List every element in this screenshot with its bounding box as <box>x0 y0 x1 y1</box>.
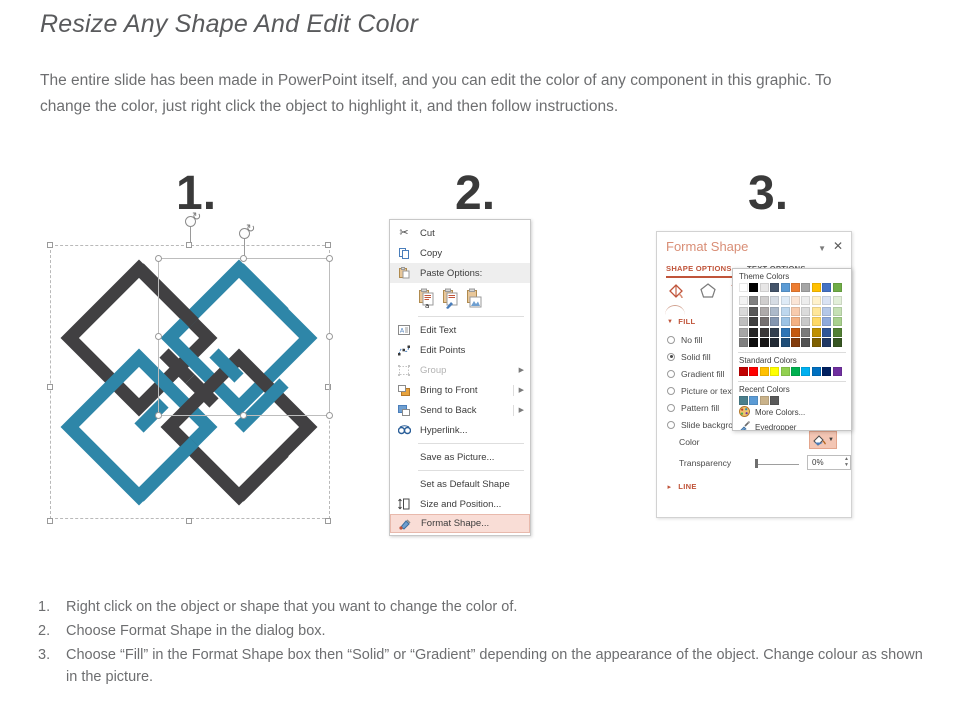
effects-pentagon-icon[interactable] <box>699 282 717 304</box>
palette-icon <box>739 406 750 419</box>
inner-handle-s[interactable] <box>240 412 247 419</box>
theme-color-cell[interactable] <box>739 328 748 337</box>
more-colors-label: More Colors... <box>755 408 805 417</box>
svg-text:a: a <box>425 302 429 309</box>
theme-color-cell[interactable] <box>770 307 779 316</box>
theme-color-cell[interactable] <box>822 307 831 316</box>
theme-color-column[interactable] <box>833 283 842 347</box>
submenu-arrow-icon: ▶ <box>519 386 524 394</box>
submenu-arrow-icon: ▶ <box>519 366 524 374</box>
radio-no-fill[interactable] <box>667 336 675 344</box>
submenu-arrow-icon: ▶ <box>519 406 524 414</box>
standard-colors-heading: Standard Colors <box>733 353 851 367</box>
theme-colors-grid[interactable] <box>733 283 851 347</box>
list-item-index: 1. <box>38 596 66 618</box>
recent-color-cell[interactable] <box>770 396 779 405</box>
theme-color-cell[interactable] <box>791 307 800 316</box>
list-item-index: 2. <box>38 620 66 642</box>
context-menu-separator <box>418 470 524 471</box>
list-item-text: Right click on the object or shape that … <box>66 596 938 618</box>
theme-color-cell[interactable] <box>781 307 790 316</box>
theme-color-cell[interactable] <box>822 283 831 292</box>
fill-option-label: Pattern fill <box>681 403 719 413</box>
theme-color-cell[interactable] <box>801 296 810 305</box>
theme-color-column[interactable] <box>822 283 831 347</box>
theme-color-cell[interactable] <box>739 283 748 292</box>
color-swatch-button[interactable]: ▼ <box>809 431 837 449</box>
fill-bucket-swatch-icon <box>812 434 827 447</box>
theme-color-cell[interactable] <box>739 338 748 347</box>
theme-color-cell[interactable] <box>833 296 842 305</box>
theme-color-cell[interactable] <box>801 338 810 347</box>
transparency-value: 0% <box>812 458 824 467</box>
context-menu-item-edit-points[interactable]: Edit Points <box>390 340 530 360</box>
context-menu-label: Set as Default Shape <box>420 479 510 490</box>
theme-color-cell[interactable] <box>791 338 800 347</box>
theme-color-cell[interactable] <box>739 317 748 326</box>
inner-handle-se[interactable] <box>326 412 333 419</box>
intro-paragraph: The entire slide has been made in PowerP… <box>40 68 872 120</box>
theme-color-cell[interactable] <box>822 338 831 347</box>
theme-color-cell[interactable] <box>812 283 821 292</box>
theme-color-cell[interactable] <box>791 283 800 292</box>
context-menu-item-edit-text[interactable]: A Edit Text <box>390 320 530 340</box>
theme-color-cell[interactable] <box>760 296 769 305</box>
context-menu-label: Save as Picture... <box>420 452 494 463</box>
inner-handle-w[interactable] <box>155 333 162 340</box>
selection-handle-n[interactable] <box>186 242 192 248</box>
radio-solid-fill[interactable] <box>667 353 675 361</box>
recent-colors-heading: Recent Colors <box>733 382 851 396</box>
theme-color-cell[interactable] <box>833 307 842 316</box>
recent-color-cell[interactable] <box>760 396 769 405</box>
theme-color-cell[interactable] <box>760 338 769 347</box>
recent-color-cell[interactable] <box>749 396 758 405</box>
theme-color-cell[interactable] <box>812 296 821 305</box>
context-menu-label: Send to Back <box>420 405 477 416</box>
context-menu-label: Size and Position... <box>420 499 501 510</box>
page-title: Resize Any Shape And Edit Color <box>40 10 418 39</box>
edit-text-icon: A <box>396 323 412 337</box>
standard-color-cell[interactable] <box>760 367 769 376</box>
rotate-arrow-inner-icon: ↻ <box>246 224 255 235</box>
selection-handle-ne[interactable] <box>325 242 331 248</box>
fill-option-label: Picture or text <box>681 386 734 396</box>
theme-color-cell[interactable] <box>760 307 769 316</box>
theme-color-cell[interactable] <box>812 328 821 337</box>
transparency-input[interactable]: 0% ▲▼ <box>807 455 851 470</box>
context-menu-label: Copy <box>420 248 442 259</box>
theme-color-column[interactable] <box>770 283 779 347</box>
context-menu-item-paste-options[interactable]: Paste Options: <box>390 263 530 283</box>
theme-color-cell[interactable] <box>833 338 842 347</box>
theme-color-cell[interactable] <box>781 283 790 292</box>
theme-color-cell[interactable] <box>833 283 842 292</box>
theme-color-cell[interactable] <box>822 328 831 337</box>
active-icon-underline <box>665 305 685 315</box>
inner-handle-e[interactable] <box>326 333 333 340</box>
theme-color-cell[interactable] <box>770 338 779 347</box>
eyedropper-item[interactable]: Eyedropper <box>733 420 851 431</box>
selection-handle-sw[interactable] <box>47 518 53 524</box>
theme-color-cell[interactable] <box>791 296 800 305</box>
fill-option-label: Gradient fill <box>681 369 724 379</box>
triangle-right-icon: ▼ <box>667 483 673 489</box>
standard-color-cell[interactable] <box>833 367 842 376</box>
theme-color-cell[interactable] <box>822 317 831 326</box>
standard-color-cell[interactable] <box>812 367 821 376</box>
theme-color-cell[interactable] <box>749 338 758 347</box>
context-menu-label: Hyperlink... <box>420 425 468 436</box>
active-tab-underline <box>666 276 738 278</box>
more-colors-item[interactable]: More Colors... <box>733 405 851 420</box>
hyperlink-icon <box>396 423 412 437</box>
context-menu-item-group[interactable]: Group ▶ <box>390 360 530 380</box>
chevron-down-icon[interactable]: ▼ <box>818 244 826 253</box>
theme-color-cell[interactable] <box>739 307 748 316</box>
theme-color-cell[interactable] <box>801 317 810 326</box>
context-menu-item-set-default-shape[interactable]: Set as Default Shape <box>390 474 530 494</box>
theme-color-cell[interactable] <box>760 283 769 292</box>
rotate-stem-outer <box>190 227 191 242</box>
triangle-down-icon: ▼ <box>667 319 673 325</box>
radio-gradient-fill[interactable] <box>667 370 675 378</box>
context-menu-item-size-and-position[interactable]: Size and Position... <box>390 494 530 514</box>
theme-color-cell[interactable] <box>770 296 779 305</box>
theme-color-cell[interactable] <box>749 296 758 305</box>
context-menu-item-format-shape[interactable]: Format Shape... <box>390 514 530 533</box>
list-item-index: 3. <box>38 644 66 666</box>
inner-handle-ne[interactable] <box>326 255 333 262</box>
theme-color-cell[interactable] <box>760 317 769 326</box>
theme-color-cell[interactable] <box>791 317 800 326</box>
format-shape-icon <box>397 517 413 531</box>
theme-color-cell[interactable] <box>781 296 790 305</box>
context-menu-label: Group <box>420 365 446 376</box>
radio-slide-background[interactable] <box>667 421 675 429</box>
tab-shape-options[interactable]: SHAPE OPTIONS <box>666 264 732 273</box>
paste-options-row[interactable]: a <box>390 283 530 313</box>
menu-divider <box>513 385 514 396</box>
recent-color-cell[interactable] <box>739 396 748 405</box>
radio-pattern-fill[interactable] <box>667 404 675 412</box>
theme-color-cell[interactable] <box>749 328 758 337</box>
selection-handle-se[interactable] <box>325 518 331 524</box>
size-position-icon <box>396 497 412 511</box>
theme-color-column[interactable] <box>781 283 790 347</box>
theme-color-cell[interactable] <box>770 283 779 292</box>
standard-color-cell[interactable] <box>770 367 779 376</box>
color-row[interactable]: Color ▼ <box>679 437 847 447</box>
context-menu-item-cut[interactable]: ✂ Cut <box>390 223 530 243</box>
close-icon[interactable]: ✕ <box>833 240 843 252</box>
context-menu-separator <box>418 316 524 317</box>
list-item-text: Choose “Fill” in the Format Shape box th… <box>66 644 938 688</box>
theme-colors-heading: Theme Colors <box>733 269 851 283</box>
inner-handle-sw[interactable] <box>155 412 162 419</box>
chevron-down-icon[interactable]: ▼ <box>828 437 834 443</box>
eyedropper-icon <box>739 421 750 431</box>
selection-handle-nw[interactable] <box>47 242 53 248</box>
context-menu-item-hyperlink[interactable]: Hyperlink... <box>390 420 530 440</box>
standard-color-cell[interactable] <box>739 367 748 376</box>
bring-front-icon <box>396 383 412 397</box>
list-item: 1. Right click on the object or shape th… <box>38 596 938 618</box>
rotate-stem-inner <box>244 239 245 256</box>
theme-color-column[interactable] <box>760 283 769 347</box>
list-item: 2. Choose Format Shape in the dialog box… <box>38 620 938 642</box>
standard-color-cell[interactable] <box>749 367 758 376</box>
standard-color-cell[interactable] <box>822 367 831 376</box>
instructions-list: 1. Right click on the object or shape th… <box>38 596 938 690</box>
context-menu-label: Paste Options: <box>420 268 482 279</box>
context-menu-label: Edit Points <box>420 345 465 356</box>
context-menu-label: Bring to Front <box>420 385 478 396</box>
scissors-icon: ✂ <box>396 226 412 240</box>
inner-handle-n[interactable] <box>240 255 247 262</box>
fill-bucket-icon[interactable] <box>667 282 685 304</box>
recent-colors-grid[interactable] <box>733 396 851 405</box>
theme-color-cell[interactable] <box>822 296 831 305</box>
theme-color-cell[interactable] <box>812 338 821 347</box>
fill-option-label: No fill <box>681 335 703 345</box>
step-number-3: 3. <box>748 170 788 218</box>
context-menu-item-copy[interactable]: Copy <box>390 243 530 263</box>
color-label: Color <box>679 437 700 447</box>
context-menu[interactable]: ✂ Cut Copy Paste Options: a A Edit Text <box>389 219 531 536</box>
standard-color-cell[interactable] <box>781 367 790 376</box>
clipboard-icon <box>396 266 412 280</box>
color-picker-flyout[interactable]: Theme Colors Standard Colors Recent Colo… <box>732 268 852 431</box>
theme-color-cell[interactable] <box>801 307 810 316</box>
context-menu-label: Edit Text <box>420 325 456 336</box>
theme-color-cell[interactable] <box>812 307 821 316</box>
transparency-slider-track[interactable] <box>757 464 799 465</box>
transparency-label: Transparency <box>679 458 731 468</box>
fill-option-label: Solid fill <box>681 352 711 362</box>
standard-color-cell[interactable] <box>801 367 810 376</box>
theme-color-cell[interactable] <box>781 328 790 337</box>
line-group-label: LINE <box>678 482 697 491</box>
theme-color-cell[interactable] <box>801 283 810 292</box>
theme-color-cell[interactable] <box>770 328 779 337</box>
inner-selection-outline <box>158 258 330 416</box>
selection-handle-w[interactable] <box>47 384 53 390</box>
send-back-icon <box>396 403 412 417</box>
paste-keep-formatting-icon[interactable]: a <box>418 288 435 309</box>
rotate-arrow-outer-icon: ↻ <box>192 212 201 223</box>
theme-color-cell[interactable] <box>749 307 758 316</box>
menu-divider <box>513 405 514 416</box>
theme-color-cell[interactable] <box>749 317 758 326</box>
group-icon <box>396 363 412 377</box>
context-menu-item-save-as-picture[interactable]: Save as Picture... <box>390 447 530 467</box>
theme-color-column[interactable] <box>801 283 810 347</box>
fill-group-label: FILL <box>678 317 695 326</box>
theme-color-cell[interactable] <box>739 296 748 305</box>
line-group-header[interactable]: ▼ LINE <box>667 482 697 491</box>
transparency-slider-knob[interactable] <box>755 459 758 468</box>
selection-handle-s[interactable] <box>186 518 192 524</box>
theme-color-column[interactable] <box>812 283 821 347</box>
step-number-2: 2. <box>455 170 495 218</box>
theme-color-cell[interactable] <box>791 328 800 337</box>
theme-color-column[interactable] <box>791 283 800 347</box>
theme-color-cell[interactable] <box>749 283 758 292</box>
paste-picture-icon[interactable] <box>466 288 483 309</box>
shape-selection-panel[interactable]: ↻ ↻ <box>44 233 336 523</box>
format-shape-title: Format Shape <box>666 239 748 254</box>
radio-picture-or-text[interactable] <box>667 387 675 395</box>
theme-color-cell[interactable] <box>760 328 769 337</box>
inner-handle-nw[interactable] <box>155 255 162 262</box>
theme-color-cell[interactable] <box>833 328 842 337</box>
standard-colors-grid[interactable] <box>733 367 851 376</box>
context-menu-separator <box>418 443 524 444</box>
transparency-row[interactable]: Transparency 0% ▲▼ <box>679 458 849 468</box>
theme-color-cell[interactable] <box>812 317 821 326</box>
context-menu-item-send-to-back[interactable]: Send to Back ▶ <box>390 400 530 420</box>
theme-color-cell[interactable] <box>781 317 790 326</box>
theme-color-column[interactable] <box>749 283 758 347</box>
theme-color-cell[interactable] <box>781 338 790 347</box>
theme-color-cell[interactable] <box>833 317 842 326</box>
theme-color-cell[interactable] <box>801 328 810 337</box>
copy-icon <box>396 246 412 260</box>
edit-points-icon <box>396 343 412 357</box>
context-menu-item-bring-to-front[interactable]: Bring to Front ▶ <box>390 380 530 400</box>
context-menu-label: Cut <box>420 228 435 239</box>
context-menu-label: Format Shape... <box>421 518 489 529</box>
eyedropper-label: Eyedropper <box>755 423 796 431</box>
theme-color-column[interactable] <box>739 283 748 347</box>
spinner-icon[interactable]: ▲▼ <box>844 456 849 469</box>
standard-color-cell[interactable] <box>791 367 800 376</box>
paste-use-theme-icon[interactable] <box>442 288 459 309</box>
list-item: 3. Choose “Fill” in the Format Shape box… <box>38 644 938 688</box>
list-item-text: Choose Format Shape in the dialog box. <box>66 620 938 642</box>
theme-color-cell[interactable] <box>770 317 779 326</box>
